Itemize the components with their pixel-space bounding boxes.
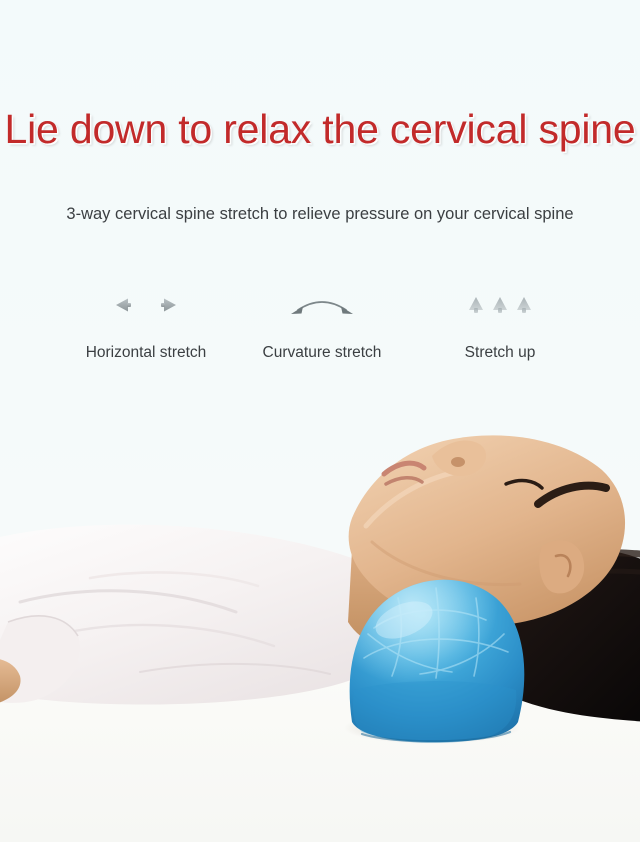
feature-curvature-stretch: Curvature stretch bbox=[222, 284, 422, 362]
feature-horizontal-stretch: Horizontal stretch bbox=[46, 284, 246, 362]
feature-row: Horizontal stretch Curvature stretch bbox=[0, 284, 640, 384]
triple-up-arrow-icon bbox=[400, 284, 600, 326]
feature-label-curvature-stretch: Curvature stretch bbox=[222, 344, 422, 362]
feature-label-stretch-up: Stretch up bbox=[400, 344, 600, 362]
curved-double-arrow-icon bbox=[222, 284, 422, 326]
product-poster: Lie down to relax the cervical spine 3-w… bbox=[0, 0, 640, 842]
product-photo bbox=[0, 422, 640, 842]
feature-label-horizontal-stretch: Horizontal stretch bbox=[46, 344, 246, 362]
horizontal-double-arrow-icon bbox=[46, 284, 246, 326]
feature-stretch-up: Stretch up bbox=[400, 284, 600, 362]
page-title: Lie down to relax the cervical spine bbox=[0, 108, 640, 151]
page-subtitle: 3-way cervical spine stretch to relieve … bbox=[0, 205, 640, 224]
